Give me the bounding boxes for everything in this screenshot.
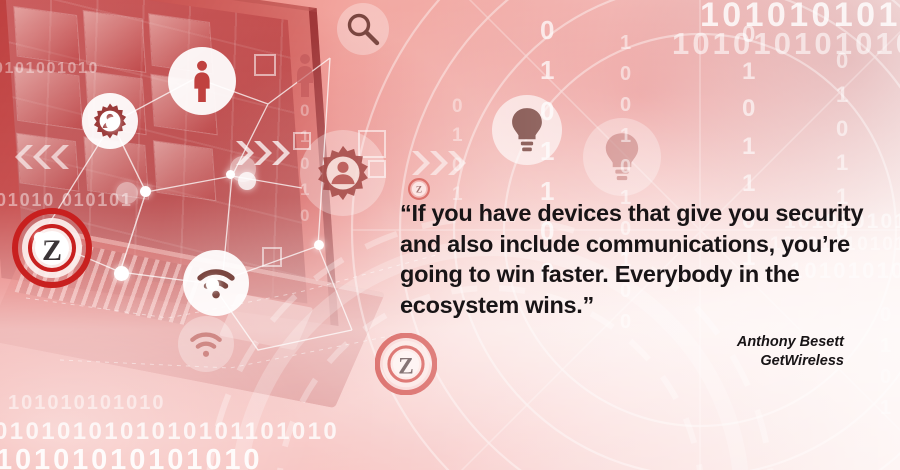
network-node: [114, 266, 129, 281]
wifi-ghost-badge: [178, 316, 234, 372]
z-logo-badge-small: Z: [408, 178, 430, 200]
binary-row: 101010101010: [672, 26, 900, 62]
gear-person-badge-2: [300, 130, 386, 216]
svg-text:Z: Z: [42, 234, 62, 267]
outline-square-a: [254, 54, 276, 76]
network-node: [140, 186, 151, 197]
binary-column: 01010: [300, 98, 309, 230]
binary-row: 101010101010: [8, 392, 165, 415]
gear-person-icon-2: [312, 142, 374, 204]
z-logo-badge: Z: [12, 208, 92, 288]
outline-square-c: [262, 247, 282, 267]
wifi-ghost-icon: [189, 330, 223, 358]
chevron-group-mid: [412, 148, 478, 178]
binary-row: 0101001010: [0, 60, 99, 78]
network-node: [314, 240, 324, 250]
network-node: [230, 156, 256, 182]
magnifier-badge: [337, 3, 389, 55]
binary-row: 10101010101010: [0, 444, 262, 470]
binary-column: 0101: [452, 92, 463, 210]
network-node: [206, 278, 219, 291]
chevron-group-left: [3, 142, 69, 172]
network-node: [34, 232, 45, 243]
binary-row: 0101010101010101101010: [0, 418, 339, 446]
attribution-name: Anthony Besett: [400, 333, 844, 352]
quote-text: “If you have devices that give you secur…: [400, 198, 868, 320]
network-node: [106, 117, 119, 130]
z-logo-icon: Z: [12, 208, 92, 288]
attribution: Anthony Besett GetWireless: [400, 333, 868, 371]
person-badge: [168, 47, 236, 115]
svg-text:Z: Z: [416, 186, 422, 196]
binary-row: 01010 010101: [0, 190, 133, 211]
attribution-company: GetWireless: [400, 352, 844, 371]
person-silhouette-icon: [292, 53, 318, 97]
quote-block: “If you have devices that give you secur…: [400, 198, 868, 371]
binary-column: 0101: [880, 300, 891, 424]
quote-graphic-canvas: Z Z Z 1010101010101010101010101010101010…: [0, 0, 900, 470]
z-logo-small-icon: Z: [408, 178, 430, 200]
person-badge-icon: [183, 60, 221, 102]
magnifier-icon: [346, 12, 380, 46]
